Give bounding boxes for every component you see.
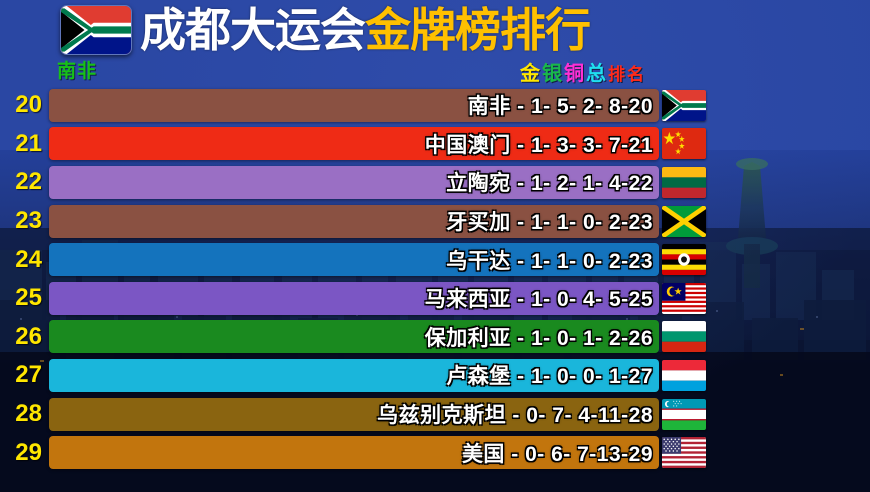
ranking-row: 23牙买加 - 1- 1- 0- 2-23 bbox=[0, 202, 870, 241]
country-bar: 乌兹别克斯坦 - 0- 7- 4-11-28 bbox=[49, 398, 659, 431]
page-title: 成都大运会金牌榜排行 bbox=[140, 7, 590, 53]
bulgaria-flag-icon bbox=[662, 321, 706, 352]
ranking-row: 29美国 - 0- 6- 7-13-29 bbox=[0, 433, 870, 472]
south-africa-flag-icon bbox=[60, 5, 132, 55]
country-bar: 牙买加 - 1- 1- 0- 2-23 bbox=[49, 205, 659, 238]
bar-label: 立陶宛 - 1- 2- 1- 4-22 bbox=[446, 167, 659, 197]
legend: 金银铜总排名 bbox=[520, 57, 646, 86]
ranking-row: 22立陶宛 - 1- 2- 1- 4-22 bbox=[0, 163, 870, 202]
bar-label: 卢森堡 - 1- 0- 0- 1-27 bbox=[446, 360, 659, 390]
rank-number: 25 bbox=[0, 284, 48, 312]
ranking-row: 26保加利亚 - 1- 0- 1- 2-26 bbox=[0, 318, 870, 357]
medal-ranking-scene: 成都大运会金牌榜排行 南非 金银铜总排名 20南非 - 1- 5- 2- 8-2… bbox=[0, 0, 870, 492]
ranking-row: 28乌兹别克斯坦 - 0- 7- 4-11-28 bbox=[0, 395, 870, 434]
bar-label: 马来西亚 - 1- 0- 4- 5-25 bbox=[425, 283, 659, 313]
ranking-row: 20南非 - 1- 5- 2- 8-20 bbox=[0, 86, 870, 125]
legend-rank: 排名 bbox=[608, 65, 646, 84]
country-bar: 立陶宛 - 1- 2- 1- 4-22 bbox=[49, 166, 659, 199]
ranking-bar-list: 20南非 - 1- 5- 2- 8-2021中国澳门 - 1- 3- 3- 7-… bbox=[0, 86, 870, 472]
bar-label: 乌干达 - 1- 1- 0- 2-23 bbox=[446, 245, 659, 275]
ranking-row: 24乌干达 - 1- 1- 0- 2-23 bbox=[0, 240, 870, 279]
rank-number: 20 bbox=[0, 91, 48, 119]
rank-number: 29 bbox=[0, 439, 48, 467]
malaysia-flag-icon bbox=[662, 283, 706, 314]
bar-label: 乌兹别克斯坦 - 0- 7- 4-11-28 bbox=[377, 399, 659, 429]
country-bar: 中国澳门 - 1- 3- 3- 7-21 bbox=[49, 127, 659, 160]
title-gold-part: 金牌榜排行 bbox=[365, 4, 590, 56]
legend-bronze: 铜 bbox=[564, 63, 586, 85]
bar-label: 保加利亚 - 1- 0- 1- 2-26 bbox=[425, 322, 659, 352]
usa-flag-icon bbox=[662, 437, 706, 468]
country-bar: 南非 - 1- 5- 2- 8-20 bbox=[49, 89, 659, 122]
highlight-country-label: 南非 bbox=[57, 56, 97, 83]
uganda-flag-icon bbox=[662, 244, 706, 275]
jamaica-flag-icon bbox=[662, 206, 706, 237]
lithuania-flag-icon bbox=[662, 167, 706, 198]
rank-number: 22 bbox=[0, 168, 48, 196]
legend-gold: 金 bbox=[520, 63, 542, 85]
title-row: 成都大运会金牌榜排行 bbox=[60, 2, 590, 58]
country-bar: 卢森堡 - 1- 0- 0- 1-27 bbox=[49, 359, 659, 392]
uzbekistan-flag-icon bbox=[662, 399, 706, 430]
country-bar: 保加利亚 - 1- 0- 1- 2-26 bbox=[49, 320, 659, 353]
ranking-row: 21中国澳门 - 1- 3- 3- 7-21 bbox=[0, 125, 870, 164]
country-bar: 美国 - 0- 6- 7-13-29 bbox=[49, 436, 659, 469]
luxembourg-flag-icon bbox=[662, 360, 706, 391]
bar-label: 美国 - 0- 6- 7-13-29 bbox=[462, 438, 659, 468]
rank-number: 27 bbox=[0, 361, 48, 389]
header: 成都大运会金牌榜排行 南非 金银铜总排名 bbox=[0, 0, 870, 86]
country-bar: 马来西亚 - 1- 0- 4- 5-25 bbox=[49, 282, 659, 315]
ranking-row: 27卢森堡 - 1- 0- 0- 1-27 bbox=[0, 356, 870, 395]
rank-number: 24 bbox=[0, 246, 48, 274]
title-white-part: 成都大运会 bbox=[140, 4, 365, 56]
ranking-row: 25马来西亚 - 1- 0- 4- 5-25 bbox=[0, 279, 870, 318]
rank-number: 23 bbox=[0, 207, 48, 235]
bar-label: 牙买加 - 1- 1- 0- 2-23 bbox=[446, 206, 659, 236]
legend-total: 总 bbox=[586, 63, 608, 85]
bar-label: 中国澳门 - 1- 3- 3- 7-21 bbox=[425, 129, 659, 159]
china-flag-icon bbox=[662, 128, 706, 159]
south-africa-flag-icon bbox=[662, 90, 706, 121]
legend-silver: 银 bbox=[542, 63, 564, 85]
rank-number: 28 bbox=[0, 400, 48, 428]
rank-number: 26 bbox=[0, 323, 48, 351]
bar-label: 南非 - 1- 5- 2- 8-20 bbox=[468, 90, 659, 120]
rank-number: 21 bbox=[0, 130, 48, 158]
country-bar: 乌干达 - 1- 1- 0- 2-23 bbox=[49, 243, 659, 276]
